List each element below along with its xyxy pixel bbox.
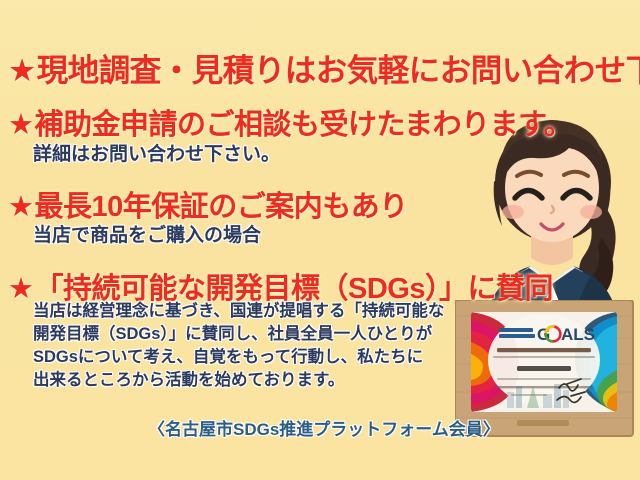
platform-member-note: 〈名古屋市SDGs推進プラットフォーム会員〉 — [148, 415, 500, 440]
headline-2-text: 補助金申請のご相談も受けたまわります。 — [35, 109, 573, 141]
headline-2: ★補助金申請のご相談も受けたまわります。 — [8, 101, 572, 143]
star-icon: ★ — [8, 52, 36, 89]
promotional-poster: G ALS — [0, 0, 640, 480]
headline-1-text: 現地調査・見積りはお気軽にお問い合わせ下さい!! — [37, 52, 640, 88]
star-icon: ★ — [8, 271, 34, 306]
subline-2: 当店で商品をご購入の場合 — [33, 220, 261, 247]
body-line: 当店は経営理念に基づき、国連が提唱する「持続可能な — [33, 300, 453, 323]
headline-3-text: 最長10年保証のご案内もあり — [35, 191, 408, 223]
body-line: 開発目標（SDGs）」に賛同し、社員全員一人ひとりが — [33, 323, 453, 346]
text-content: ★現地調査・見積りはお気軽にお問い合わせ下さい!! ★補助金申請のご相談も受けた… — [0, 0, 640, 480]
body-line: SDGsについて考え、自覚をもって行動し、私たちに — [33, 346, 453, 369]
star-icon: ★ — [8, 189, 34, 224]
headline-3: ★最長10年保証のご案内もあり — [8, 183, 408, 225]
headline-1: ★現地調査・見積りはお気軽にお問い合わせ下さい!! — [8, 45, 640, 91]
body-line: 出来るところから活動を始めております。 — [33, 369, 453, 392]
star-icon: ★ — [8, 107, 34, 142]
sdgs-body-paragraph: 当店は経営理念に基づき、国連が提唱する「持続可能な 開発目標（SDGs）」に賛同… — [33, 300, 453, 392]
subline-1: 詳細はお問い合わせ下さい。 — [33, 139, 280, 166]
